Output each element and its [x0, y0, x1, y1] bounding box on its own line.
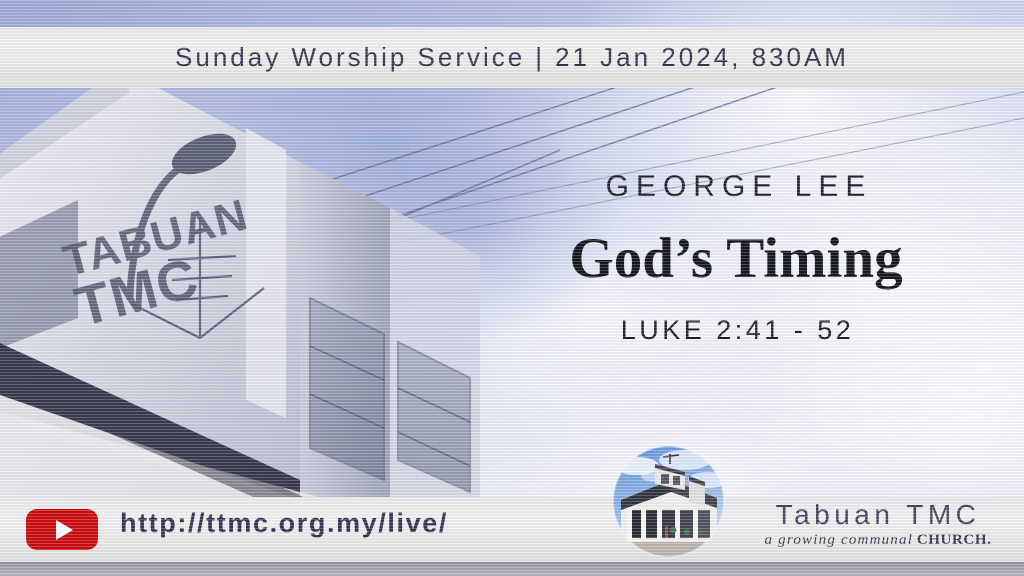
- service-label: Sunday Worship Service: [175, 42, 525, 72]
- header-bar: Sunday Worship Service|21 Jan 2024, 830A…: [0, 27, 1024, 88]
- youtube-play-icon[interactable]: [26, 509, 98, 550]
- service-datetime: 21 Jan 2024, 830AM: [555, 42, 849, 72]
- church-name: Tabuan TMC: [752, 500, 1004, 529]
- church-wordmark: Tabuan TMC a growing communal CHURCH.: [752, 500, 1004, 549]
- play-triangle-icon: [56, 520, 73, 540]
- tagline-caps: CHURCH.: [917, 532, 992, 548]
- sermon-announcement-slide: TABUAN TMC: [0, 0, 1024, 576]
- bottom-strip: [0, 562, 1024, 576]
- church-tagline: a growing communal CHURCH.: [752, 532, 1004, 549]
- scripture-reference: LUKE 2:41 - 52: [523, 315, 952, 346]
- speaker-name: GEORGE LEE: [526, 170, 952, 203]
- header-separator: |: [525, 42, 555, 72]
- sermon-title: God’s Timing: [520, 229, 952, 289]
- church-building-photo: TABUAN TMC: [0, 88, 480, 500]
- sermon-info-block: GEORGE LEE God’s Timing LUKE 2:41 - 52: [520, 170, 952, 346]
- header-title: Sunday Worship Service|21 Jan 2024, 830A…: [175, 42, 849, 73]
- livestream-url[interactable]: http://ttmc.org.my/live/: [120, 508, 448, 539]
- tagline-italic: a growing communal: [765, 532, 914, 548]
- church-logo-badge: [613, 446, 724, 557]
